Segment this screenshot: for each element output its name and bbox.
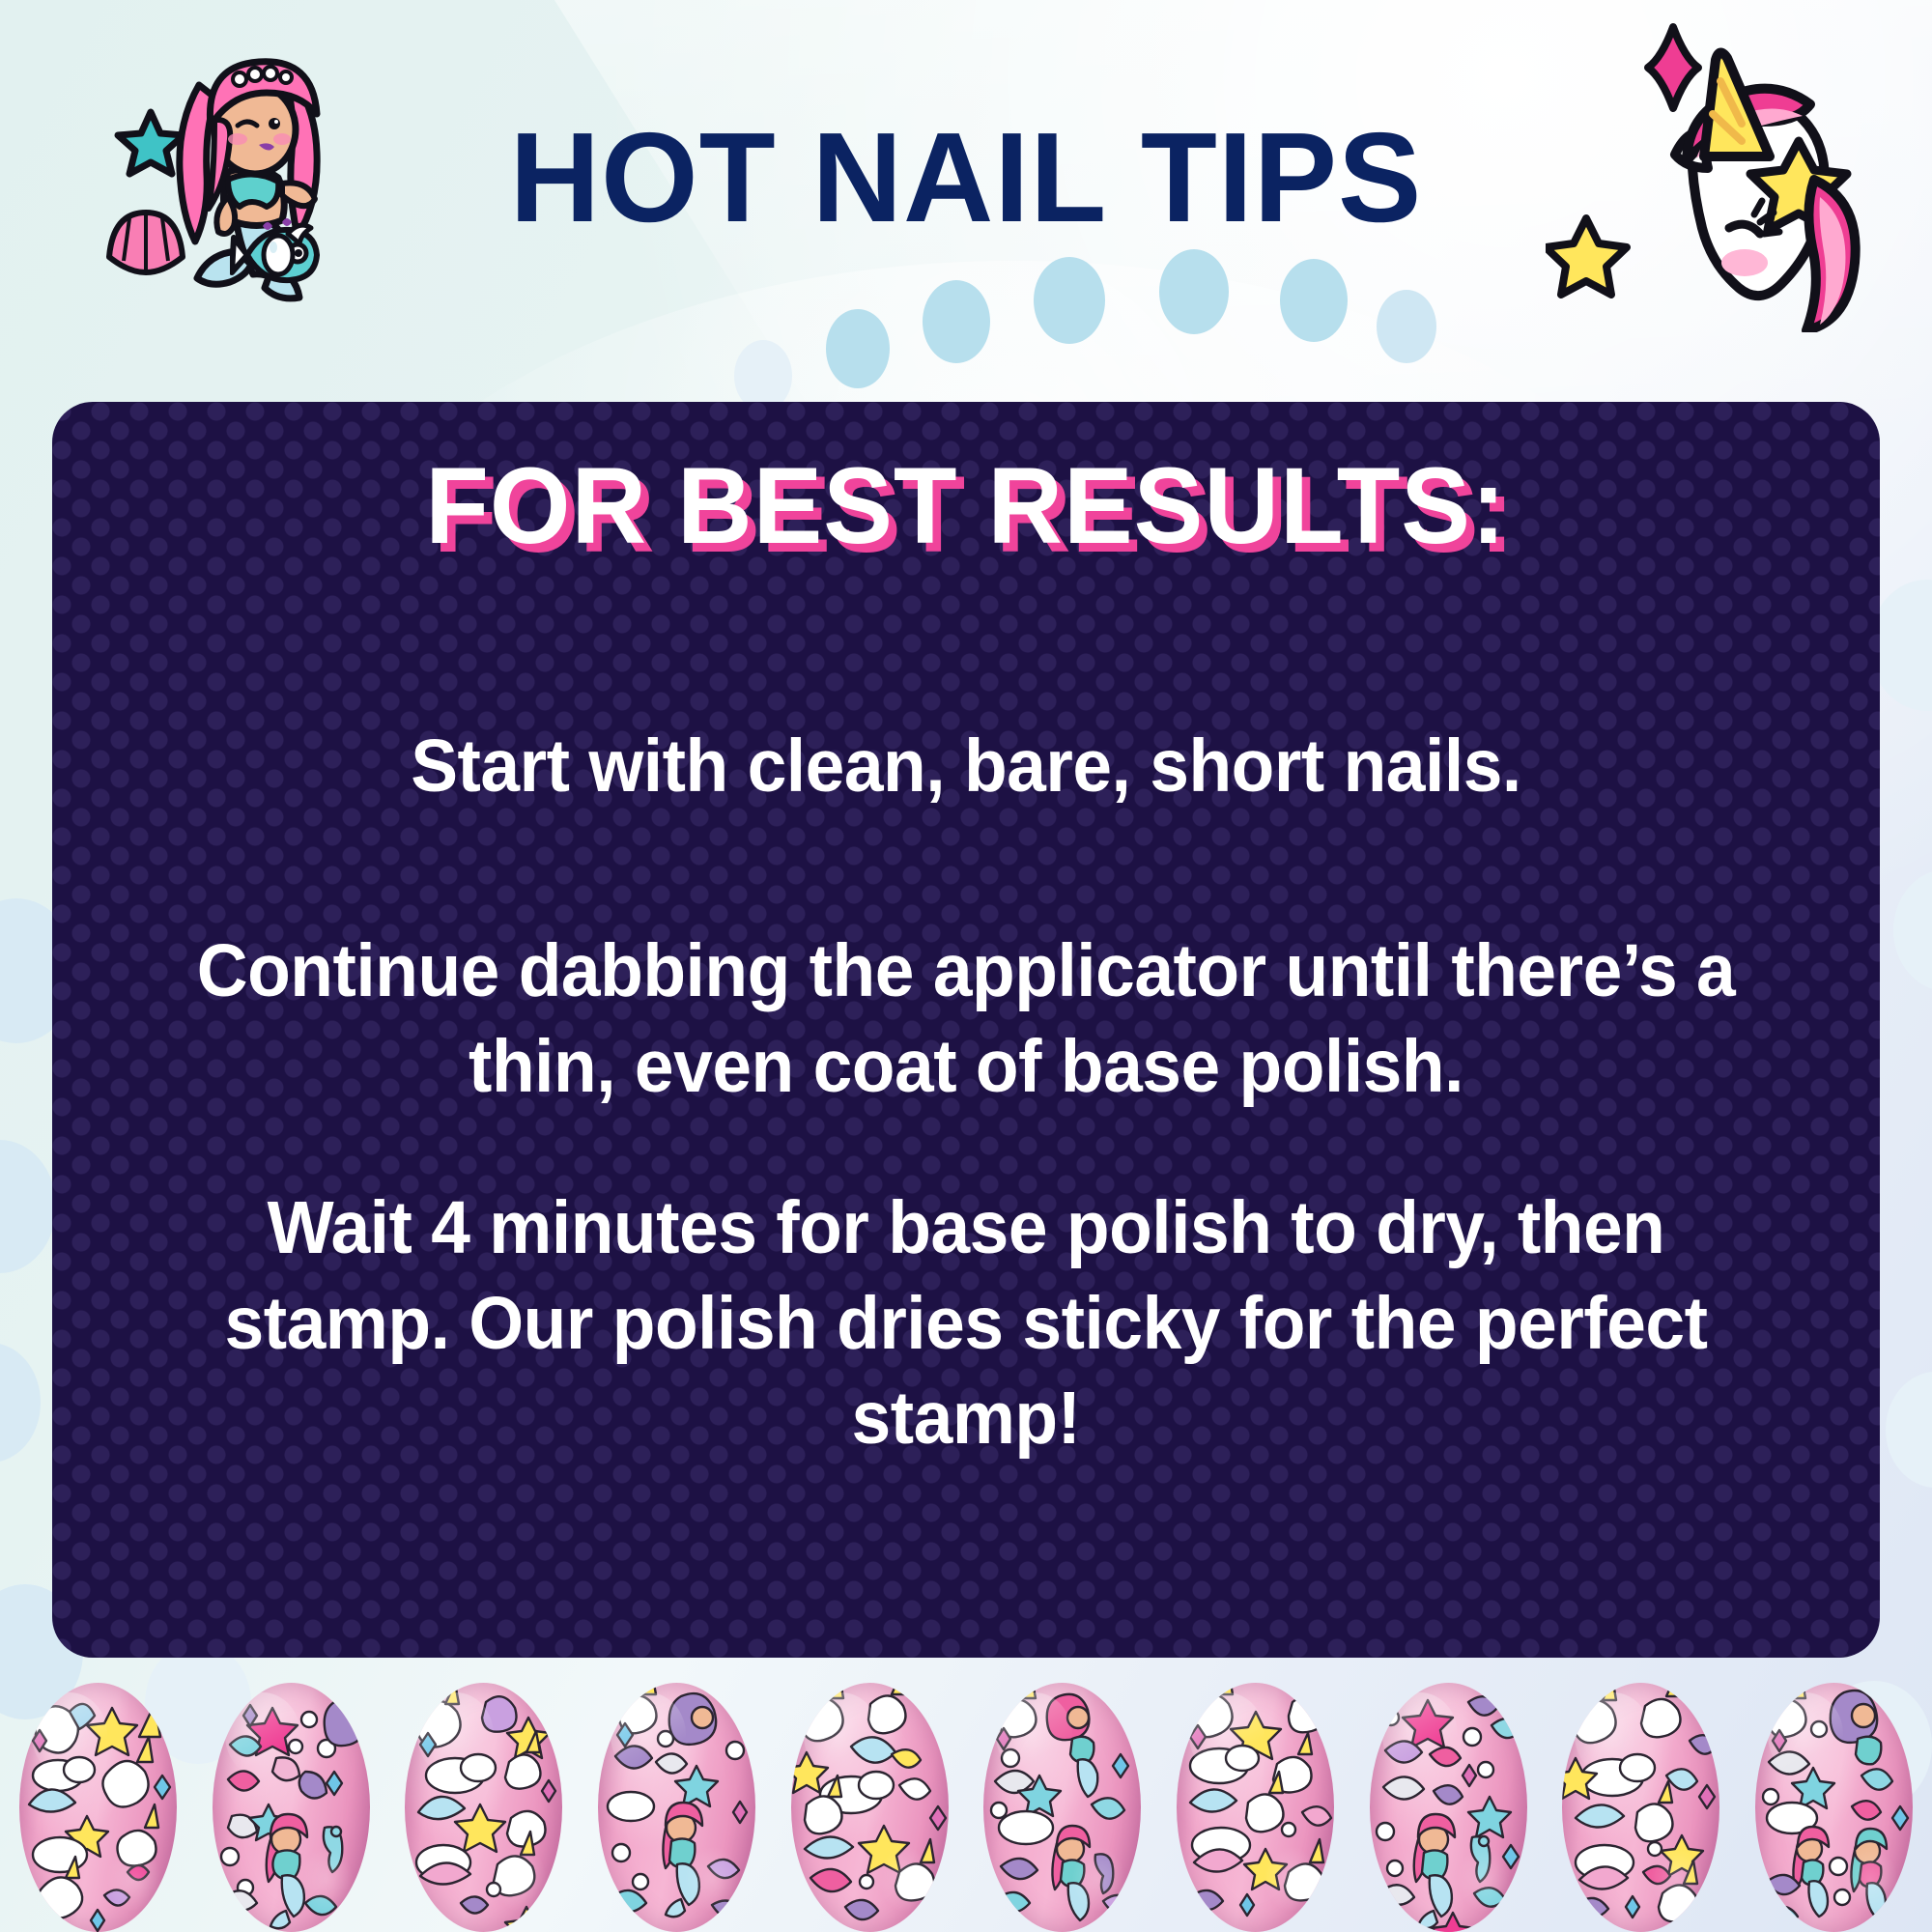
poster-root: HOT NAIL TIPS FO	[0, 0, 1932, 1932]
nail-swatch-6[interactable]	[983, 1683, 1141, 1932]
nail-art-pattern	[405, 1683, 562, 1932]
bubble-icon	[1159, 249, 1229, 334]
bubble-icon	[1377, 290, 1436, 363]
nail-swatch-10[interactable]	[1755, 1683, 1913, 1932]
nail-art-pattern	[19, 1683, 177, 1932]
bubble-icon	[1034, 257, 1105, 344]
nail-swatch-4[interactable]	[598, 1683, 755, 1932]
nail-art-pattern	[213, 1683, 370, 1932]
nail-art-pattern	[1562, 1683, 1719, 1932]
nail-swatch-1[interactable]	[19, 1683, 177, 1932]
nail-swatch-2[interactable]	[213, 1683, 370, 1932]
nail-swatch-9[interactable]	[1562, 1683, 1719, 1932]
bubble-icon	[826, 309, 890, 388]
nail-art-pattern	[791, 1683, 949, 1932]
nail-art-pattern	[598, 1683, 755, 1932]
card-heading: FOR BEST RESULTS:	[89, 452, 1843, 560]
bubble-icon	[1893, 869, 1932, 991]
nail-swatch-5[interactable]	[791, 1683, 949, 1932]
nail-swatch-3[interactable]	[405, 1683, 562, 1932]
unicorn-icon	[1546, 14, 1932, 332]
bubble-icon	[923, 280, 990, 363]
star-icon	[1546, 218, 1627, 295]
nail-art-pattern	[1755, 1683, 1913, 1932]
bubble-icon	[0, 1343, 41, 1463]
bubble-icon	[1886, 1372, 1932, 1488]
tip-paragraph-3: Wait 4 minutes for base polish to dry, t…	[153, 1180, 1778, 1466]
nail-swatch-7[interactable]	[1177, 1683, 1334, 1932]
nail-art-pattern	[983, 1683, 1141, 1932]
tip-paragraph-1: Start with clean, bare, short nails.	[153, 719, 1778, 814]
tip-paragraph-2: Continue dabbing the applicator until th…	[153, 923, 1778, 1114]
bubble-icon	[734, 340, 792, 412]
tips-card: FOR BEST RESULTS: Start with clean, bare…	[52, 402, 1880, 1658]
nail-art-pattern	[1370, 1683, 1527, 1932]
nail-swatch-8[interactable]	[1370, 1683, 1527, 1932]
bubble-icon	[1280, 259, 1348, 342]
nail-swatch-strip	[0, 1642, 1932, 1932]
sparkle-diamond-icon	[1648, 27, 1698, 108]
nail-art-pattern	[1177, 1683, 1334, 1932]
bubble-icon	[0, 1140, 56, 1273]
